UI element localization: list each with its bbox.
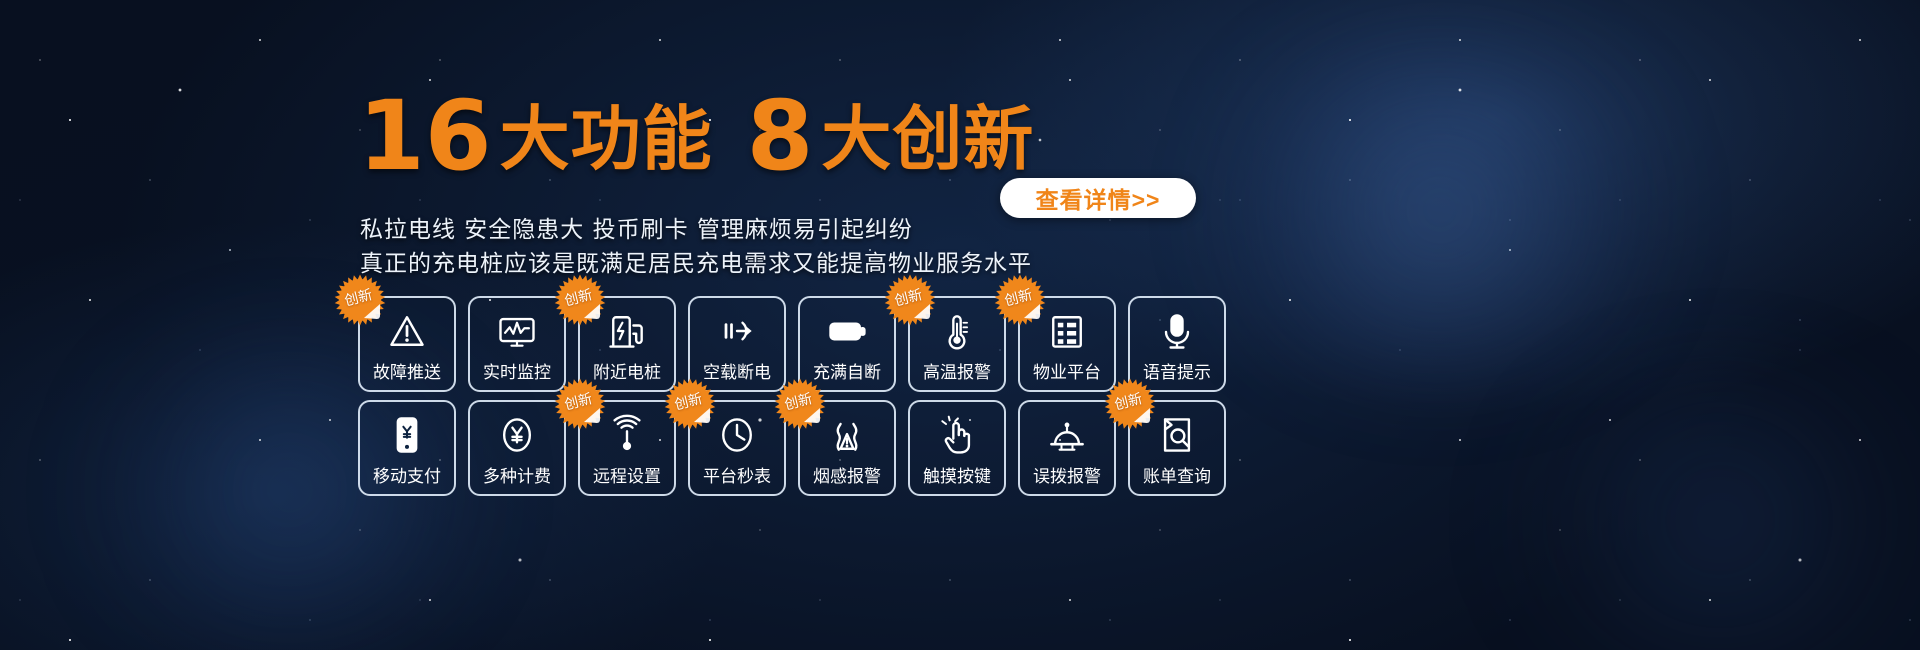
- feature-tile-label: 实时监控: [483, 358, 551, 383]
- battery-full-icon: [824, 308, 870, 354]
- feature-tile-grid: 创新故障推送实时监控创新附近电桩空载断电充满自断创新高温报警创新物业平台语音提示…: [358, 296, 1226, 504]
- microphone-icon: [1154, 308, 1200, 354]
- bill-search-icon: [1154, 412, 1200, 458]
- feature-tile-label: 平台秒表: [703, 462, 771, 487]
- feature-tile-label: 烟感报警: [813, 462, 881, 487]
- innovation-badge: 创新: [994, 274, 1046, 326]
- monitor-waveform-icon: [494, 308, 540, 354]
- headline-number-innovations: 8: [747, 80, 814, 192]
- feature-tile[interactable]: 创新故障推送: [358, 296, 456, 392]
- feature-tile-label: 远程设置: [593, 462, 661, 487]
- feature-tile-label: 移动支付: [373, 462, 441, 487]
- innovation-badge: 创新: [884, 274, 936, 326]
- feature-tile[interactable]: 创新烟感报警: [798, 400, 896, 496]
- warning-triangle-icon: [384, 308, 430, 354]
- feature-tile-label: 故障推送: [373, 358, 441, 383]
- innovation-badge: 创新: [334, 274, 386, 326]
- innovation-badge: 创新: [774, 378, 826, 430]
- antenna-signal-icon: [604, 412, 650, 458]
- innovation-badge: 创新: [1104, 378, 1156, 430]
- feature-tile[interactable]: 创新账单查询: [1128, 400, 1226, 496]
- yuan-coin-icon: [494, 412, 540, 458]
- feature-tile[interactable]: 创新远程设置: [578, 400, 676, 496]
- view-details-button[interactable]: 查看详情>>: [1000, 178, 1196, 218]
- plug-cutoff-icon: [714, 308, 760, 354]
- innovation-badge: 创新: [664, 378, 716, 430]
- feature-tile-row-2: 移动支付多种计费创新远程设置创新平台秒表创新烟感报警触摸按键误拨报警创新账单查询: [358, 400, 1226, 496]
- feature-tile[interactable]: 创新高温报警: [908, 296, 1006, 392]
- banner-content: 16大功能8大创新 查看详情>> 私拉电线 安全隐患大 投币刷卡 管理麻烦易引起…: [0, 0, 1920, 650]
- headline-number-functions: 16: [358, 80, 492, 192]
- building-icon: [1044, 308, 1090, 354]
- feature-tile[interactable]: 移动支付: [358, 400, 456, 496]
- feature-tile-label: 高温报警: [923, 358, 991, 383]
- innovation-badge: 创新: [554, 274, 606, 326]
- thermometer-icon: [934, 308, 980, 354]
- touch-hand-icon: [934, 412, 980, 458]
- alarm-bell-icon: [1044, 412, 1090, 458]
- feature-tile[interactable]: 创新物业平台: [1018, 296, 1116, 392]
- feature-tile-label: 多种计费: [483, 462, 551, 487]
- feature-tile-label: 误拨报警: [1033, 462, 1101, 487]
- feature-tile-label: 触摸按键: [923, 462, 991, 487]
- phone-yuan-icon: [384, 412, 430, 458]
- feature-tile-label: 物业平台: [1033, 358, 1101, 383]
- feature-tile-label: 账单查询: [1143, 462, 1211, 487]
- feature-tile[interactable]: 创新平台秒表: [688, 400, 786, 496]
- feature-tile[interactable]: 实时监控: [468, 296, 566, 392]
- charging-pile-icon: [604, 308, 650, 354]
- smoke-alarm-icon: [824, 412, 870, 458]
- feature-tile[interactable]: 多种计费: [468, 400, 566, 496]
- headline-label-functions: 大功能: [500, 100, 713, 178]
- feature-tile[interactable]: 触摸按键: [908, 400, 1006, 496]
- subtitle-line-1: 私拉电线 安全隐患大 投币刷卡 管理麻烦易引起纠纷: [360, 210, 913, 244]
- headline: 16大功能8大创新: [358, 88, 1034, 184]
- feature-tile[interactable]: 误拨报警: [1018, 400, 1116, 496]
- innovation-badge: 创新: [554, 378, 606, 430]
- promo-banner: 16大功能8大创新 查看详情>> 私拉电线 安全隐患大 投币刷卡 管理麻烦易引起…: [0, 0, 1920, 650]
- clock-icon: [714, 412, 760, 458]
- headline-label-innovations: 大创新: [821, 100, 1034, 178]
- subtitle-line-2: 真正的充电桩应该是既满足居民充电需求又能提高物业服务水平: [360, 244, 1032, 278]
